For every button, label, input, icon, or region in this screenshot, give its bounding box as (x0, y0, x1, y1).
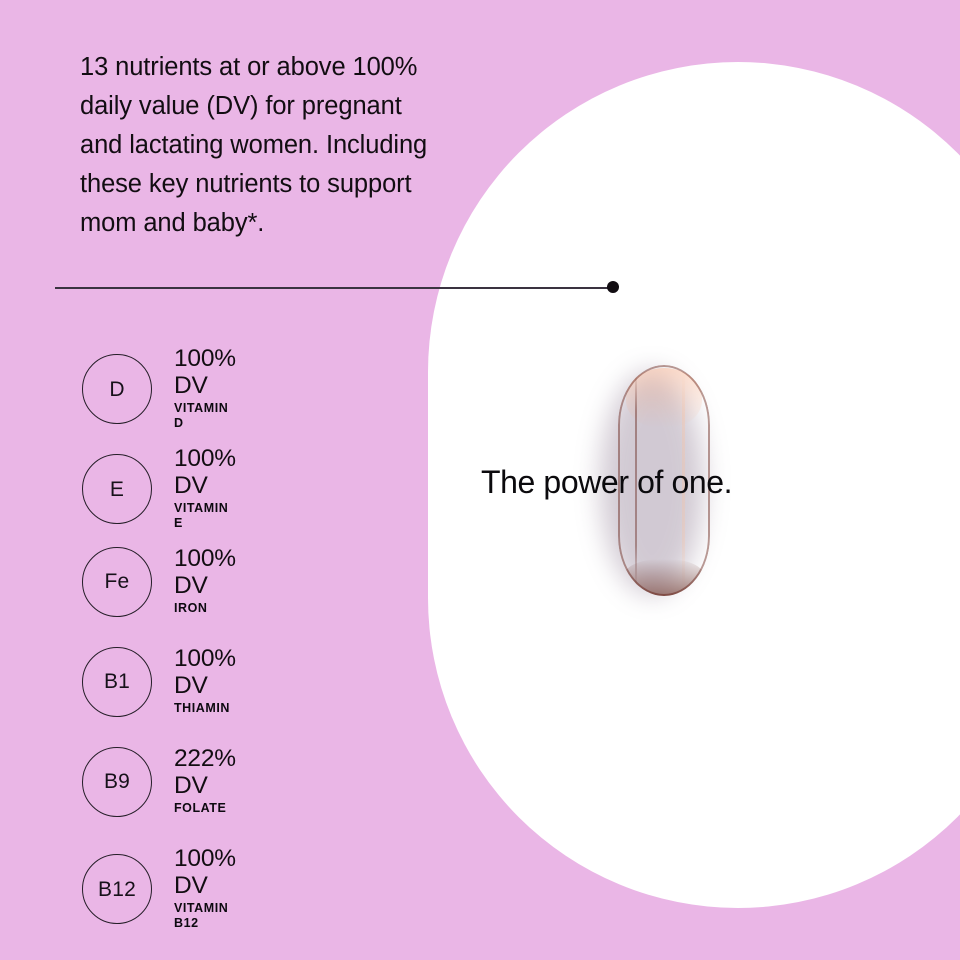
nutrient-dv-value: 100% DV (174, 345, 236, 399)
nutrient-dv-value: 222% DV (174, 745, 236, 799)
nutrient-row: B12100% DVVITAMIN B12 (82, 845, 236, 933)
nutrient-name-label: VITAMIN D (174, 401, 236, 431)
nutrient-badge-e: E (82, 454, 152, 524)
nutrient-symbol: D (109, 379, 124, 400)
nutrient-text-block: 100% DVIRON (174, 545, 236, 618)
nutrient-text-block: 100% DVVITAMIN B12 (174, 845, 236, 933)
nutrient-row: B9222% DVFOLATE (82, 745, 236, 818)
connector-line (55, 287, 613, 289)
nutrient-text-block: 100% DVVITAMIN E (174, 445, 236, 533)
nutrient-badge-b12: B12 (82, 854, 152, 924)
nutrient-name-label: VITAMIN E (174, 501, 236, 531)
connector-dot (607, 281, 619, 293)
nutrient-badge-b1: B1 (82, 647, 152, 717)
nutrient-dv-value: 100% DV (174, 645, 236, 699)
nutrient-symbol: B12 (98, 879, 136, 900)
tagline-text: The power of one. (481, 463, 841, 501)
nutrient-badge-fe: Fe (82, 547, 152, 617)
nutrient-name-label: IRON (174, 601, 236, 616)
nutrient-symbol: B9 (104, 771, 130, 792)
nutrient-symbol: Fe (105, 571, 130, 592)
nutrient-row: D100% DVVITAMIN D (82, 345, 236, 433)
nutrient-text-block: 100% DVVITAMIN D (174, 345, 236, 433)
nutrient-text-block: 222% DVFOLATE (174, 745, 236, 818)
nutrient-symbol: E (110, 479, 124, 500)
nutrient-name-label: FOLATE (174, 801, 236, 816)
nutrient-name-label: THIAMIN (174, 701, 236, 716)
nutrient-symbol: B1 (104, 671, 130, 692)
nutrient-dv-value: 100% DV (174, 445, 236, 499)
nutrient-row: Fe100% DVIRON (82, 545, 236, 618)
product-infographic: 13 nutrients at or above 100% daily valu… (0, 0, 960, 960)
nutrient-badge-d: D (82, 354, 152, 424)
nutrient-row: B1100% DVTHIAMIN (82, 645, 236, 718)
nutrient-badge-b9: B9 (82, 747, 152, 817)
nutrient-dv-value: 100% DV (174, 845, 236, 899)
nutrient-dv-value: 100% DV (174, 545, 236, 599)
headline-text: 13 nutrients at or above 100% daily valu… (80, 48, 430, 243)
nutrient-text-block: 100% DVTHIAMIN (174, 645, 236, 718)
nutrient-row: E100% DVVITAMIN E (82, 445, 236, 533)
nutrient-name-label: VITAMIN B12 (174, 901, 236, 931)
